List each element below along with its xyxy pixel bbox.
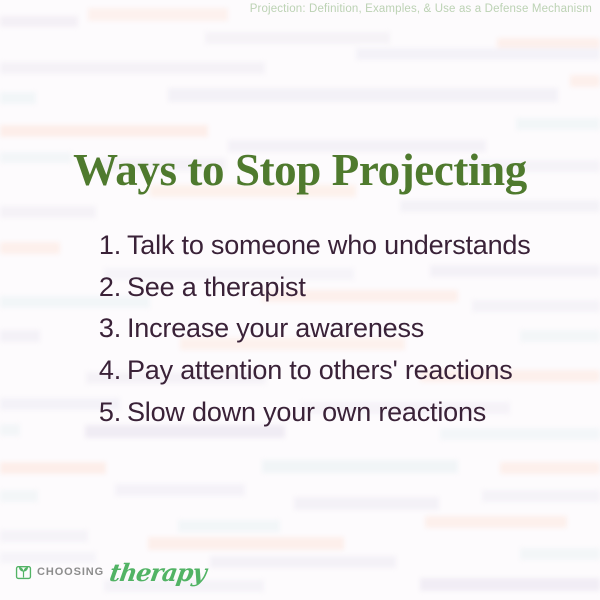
list-item-label: Talk to someone who understands <box>127 228 531 264</box>
list-item-label: See a therapist <box>127 270 515 306</box>
background-bar <box>0 125 208 137</box>
article-breadcrumb-title: Projection: Definition, Examples, & Use … <box>250 3 592 15</box>
tips-list: 1.Talk to someone who understands2.See a… <box>0 228 600 430</box>
background-bar <box>570 75 600 87</box>
background-bar <box>205 32 390 44</box>
background-bar <box>168 88 558 102</box>
background-bar <box>0 16 78 27</box>
background-bar <box>482 490 600 502</box>
background-bar <box>210 556 396 568</box>
list-item-label: Increase your awareness <box>127 311 515 347</box>
background-bar <box>400 200 600 212</box>
background-bar <box>0 206 96 218</box>
list-item-label: Slow down your own reactions <box>127 395 515 431</box>
background-bar <box>88 8 228 21</box>
background-bar <box>115 484 245 496</box>
list-item-number: 4. <box>85 353 127 389</box>
background-bar <box>294 497 439 510</box>
list-item: 1.Talk to someone who understands <box>85 228 515 264</box>
list-item: 4.Pay attention to others' reactions <box>85 353 515 389</box>
list-item: 2.See a therapist <box>85 270 515 306</box>
brand-word-choosing: CHOOSING <box>37 566 104 578</box>
background-bar <box>178 520 280 532</box>
background-bar <box>497 38 600 49</box>
list-item-number: 1. <box>85 228 127 264</box>
background-bar <box>516 118 600 130</box>
background-bar <box>425 516 567 528</box>
infographic-card: Projection: Definition, Examples, & Use … <box>0 0 600 600</box>
page-title: Ways to Stop Projecting <box>0 147 600 194</box>
background-bar <box>0 62 265 74</box>
list-item-number: 2. <box>85 270 127 306</box>
background-bar <box>356 48 600 60</box>
background-bar <box>520 548 600 560</box>
list-item-number: 5. <box>85 395 127 431</box>
list-item-label: Pay attention to others' reactions <box>127 353 515 389</box>
list-item-number: 3. <box>85 311 127 347</box>
background-bar <box>0 462 106 474</box>
background-bar <box>0 530 88 542</box>
list-item: 3.Increase your awareness <box>85 311 515 347</box>
background-bar <box>420 578 600 591</box>
background-bar <box>500 462 600 474</box>
choosing-therapy-leaf-mark-icon <box>15 563 32 580</box>
background-bar <box>148 537 344 550</box>
background-bar <box>262 460 458 473</box>
list-item: 5.Slow down your own reactions <box>85 395 515 431</box>
background-bar <box>0 92 36 104</box>
brand-word-therapy: therapy <box>108 558 208 587</box>
background-bar <box>0 490 38 502</box>
brand-logo[interactable]: CHOOSING therapy <box>15 557 206 586</box>
